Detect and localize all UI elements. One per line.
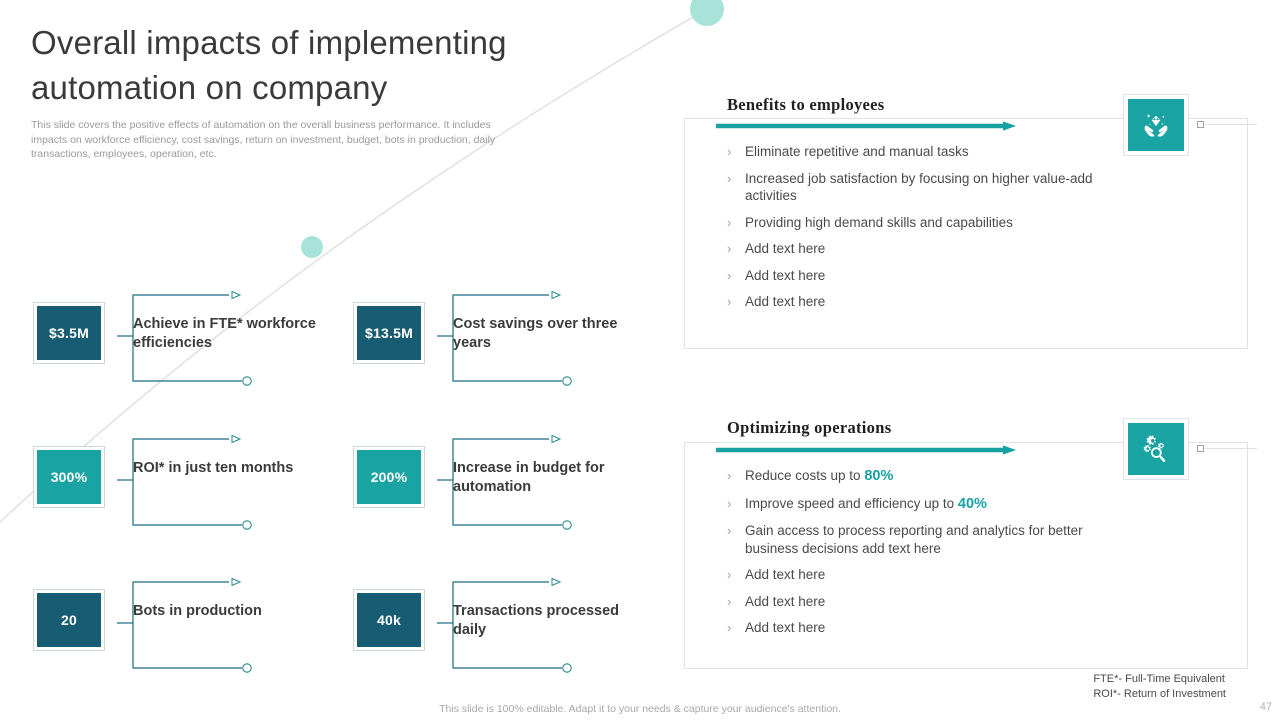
list-item[interactable]: ›Add text here: [727, 267, 1097, 285]
chevron-right-icon: ›: [727, 495, 745, 512]
metric-card[interactable]: $13.5MCost savings over three years: [353, 289, 653, 389]
metric-highlight: 80%: [864, 468, 893, 484]
chevron-right-icon: ›: [727, 566, 745, 583]
panel-icon-box: [1123, 418, 1189, 480]
metric-card[interactable]: 40kTransactions processed daily: [353, 576, 653, 676]
metric-label: Cost savings over three years: [453, 315, 643, 353]
list-item-label: Add text here: [745, 593, 825, 611]
list-item-label: Gain access to process reporting and ana…: [745, 522, 1097, 557]
list-item-label: Add text here: [745, 293, 825, 311]
legend-line-fte: FTE*- Full-Time Equivalent: [1093, 672, 1226, 687]
metric-value: 300%: [37, 450, 101, 504]
editable-footnote: This slide is 100% editable. Adapt it to…: [0, 703, 1280, 715]
metric-highlight: 40%: [958, 496, 987, 512]
list-item[interactable]: ›Reduce costs up to 80%: [727, 467, 1097, 486]
metric-chip: 200%: [353, 446, 425, 508]
diamond-in-hands-icon: [1139, 108, 1173, 142]
list-item-label: Add text here: [745, 619, 825, 637]
legend-line-roi: ROI*- Return of Investment: [1093, 687, 1226, 702]
chevron-right-icon: ›: [727, 214, 745, 231]
list-item[interactable]: ›Add text here: [727, 240, 1097, 258]
metric-label: Transactions processed daily: [453, 602, 643, 640]
metric-card[interactable]: 300%ROI* in just ten months: [33, 433, 333, 533]
list-item-label: Add text here: [745, 566, 825, 584]
metric-label: Bots in production: [133, 602, 323, 621]
list-item-label: Eliminate repetitive and manual tasks: [745, 143, 969, 161]
chevron-right-icon: ›: [727, 522, 745, 539]
connector-line: [1205, 448, 1257, 449]
panel-icon-box: [1123, 94, 1189, 156]
metric-value: $3.5M: [37, 306, 101, 360]
page-subtitle: This slide covers the positive effects o…: [31, 118, 526, 162]
slide-canvas: Overall impacts of implementing automati…: [0, 0, 1280, 720]
list-item-label: Reduce costs up to 80%: [745, 467, 893, 486]
list-item[interactable]: ›Providing high demand skills and capabi…: [727, 214, 1097, 232]
metric-chip: 40k: [353, 589, 425, 651]
panel-bullet-list: ›Eliminate repetitive and manual tasks›I…: [727, 143, 1097, 320]
panel-icon: [1128, 99, 1184, 151]
chevron-right-icon: ›: [727, 619, 745, 636]
list-item-label: Add text here: [745, 267, 825, 285]
connector-node: [1197, 121, 1204, 128]
panel-bullet-list: ›Reduce costs up to 80%›Improve speed an…: [727, 467, 1097, 646]
list-item-label: Improve speed and efficiency up to 40%: [745, 495, 987, 514]
metric-card[interactable]: 200%Increase in budget for automation: [353, 433, 653, 533]
connector-node: [1197, 445, 1204, 452]
panel-title: Optimizing operations: [727, 418, 891, 438]
list-item[interactable]: ›Eliminate repetitive and manual tasks: [727, 143, 1097, 161]
decorative-dot-middle: [301, 236, 323, 258]
chevron-right-icon: ›: [727, 143, 745, 160]
list-item[interactable]: ›Add text here: [727, 293, 1097, 311]
page-number: 47: [1260, 701, 1272, 713]
metric-label: Achieve in FTE* workforce efficiencies: [133, 315, 323, 353]
metric-label: ROI* in just ten months: [133, 459, 323, 478]
list-item-label: Add text here: [745, 240, 825, 258]
panel-title: Benefits to employees: [727, 95, 885, 115]
abbreviation-legend: FTE*- Full-Time Equivalent ROI*- Return …: [1093, 672, 1226, 702]
metric-value: 200%: [357, 450, 421, 504]
list-item[interactable]: ›Gain access to process reporting and an…: [727, 522, 1097, 557]
chevron-right-icon: ›: [727, 293, 745, 310]
panel-arrow-rule: [716, 442, 1016, 452]
list-item[interactable]: ›Add text here: [727, 619, 1097, 637]
list-item[interactable]: ›Improve speed and efficiency up to 40%: [727, 495, 1097, 514]
chevron-right-icon: ›: [727, 170, 745, 187]
metric-chip: $13.5M: [353, 302, 425, 364]
page-title: Overall impacts of implementing automati…: [31, 20, 651, 110]
list-item[interactable]: ›Add text here: [727, 566, 1097, 584]
metric-card[interactable]: 20Bots in production: [33, 576, 333, 676]
list-item-label: Increased job satisfaction by focusing o…: [745, 170, 1097, 205]
connector-line: [1205, 124, 1257, 125]
chevron-right-icon: ›: [727, 467, 745, 484]
metric-chip: $3.5M: [33, 302, 105, 364]
metric-chip: 300%: [33, 446, 105, 508]
panel-arrow-rule: [716, 118, 1016, 128]
metric-card[interactable]: $3.5MAchieve in FTE* workforce efficienc…: [33, 289, 333, 389]
chevron-right-icon: ›: [727, 593, 745, 610]
panel-icon: [1128, 423, 1184, 475]
metric-value: 40k: [357, 593, 421, 647]
list-item-label: Providing high demand skills and capabil…: [745, 214, 1013, 232]
metric-value: $13.5M: [357, 306, 421, 360]
decorative-dot-top: [690, 0, 724, 26]
metric-label: Increase in budget for automation: [453, 459, 643, 497]
chevron-right-icon: ›: [727, 267, 745, 284]
list-item[interactable]: ›Add text here: [727, 593, 1097, 611]
metric-value: 20: [37, 593, 101, 647]
list-item[interactable]: ›Increased job satisfaction by focusing …: [727, 170, 1097, 205]
metric-chip: 20: [33, 589, 105, 651]
chevron-right-icon: ›: [727, 240, 745, 257]
gear-magnifier-icon: [1139, 432, 1173, 466]
